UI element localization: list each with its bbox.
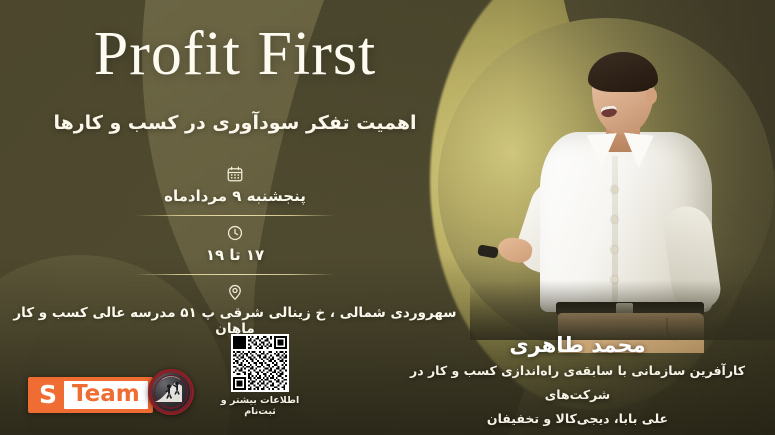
presenter-shirt-button [611,246,618,253]
page-subtitle: اهمیت تفکر سودآوری در کسب و کارها [0,112,470,134]
climbing-team-badge-icon [148,369,194,415]
qr-caption: اطلاعات بیشتر و ثبت‌نام [205,395,315,417]
info-divider [135,274,335,275]
presenter-clicker [477,244,499,258]
footer-logos: S Team [0,345,470,435]
page-title: Profit First [0,22,470,86]
steam-logo: S Team [28,377,153,413]
qr-code[interactable] [231,334,289,392]
event-date-row: پنجشنبه ۹ مردادماه [0,165,470,206]
qr-block[interactable]: اطلاعات بیشتر و ثبت‌نام [205,334,315,417]
info-divider [135,215,335,216]
event-date-text: پنجشنبه ۹ مردادماه [0,187,470,206]
steam-logo-mark: S [33,382,64,407]
presenter-ear [646,88,657,104]
calendar-icon [226,165,244,183]
event-address-row: سهروردی شمالی ، خ زینالی شرقی پ ۵۱ مدرسه… [0,283,470,339]
event-poster: Profit First اهمیت تفکر سودآوری در کسب و… [0,0,775,435]
event-time-row: ۱۷ تا ۱۹ [0,224,470,265]
presenter-photo [470,10,775,340]
event-info-block: پنجشنبه ۹ مردادماه ۱۷ تا ۱۹ [0,165,470,338]
map-pin-icon [226,283,244,301]
event-time-text: ۱۷ تا ۱۹ [0,246,470,265]
presenter-shirt-button [611,186,618,193]
steam-logo-word: Team [64,381,148,409]
photo-bottom-fade [470,280,775,340]
clock-icon [226,224,244,242]
presenter-hair [588,52,658,92]
presenter-shirt-button [611,216,618,223]
